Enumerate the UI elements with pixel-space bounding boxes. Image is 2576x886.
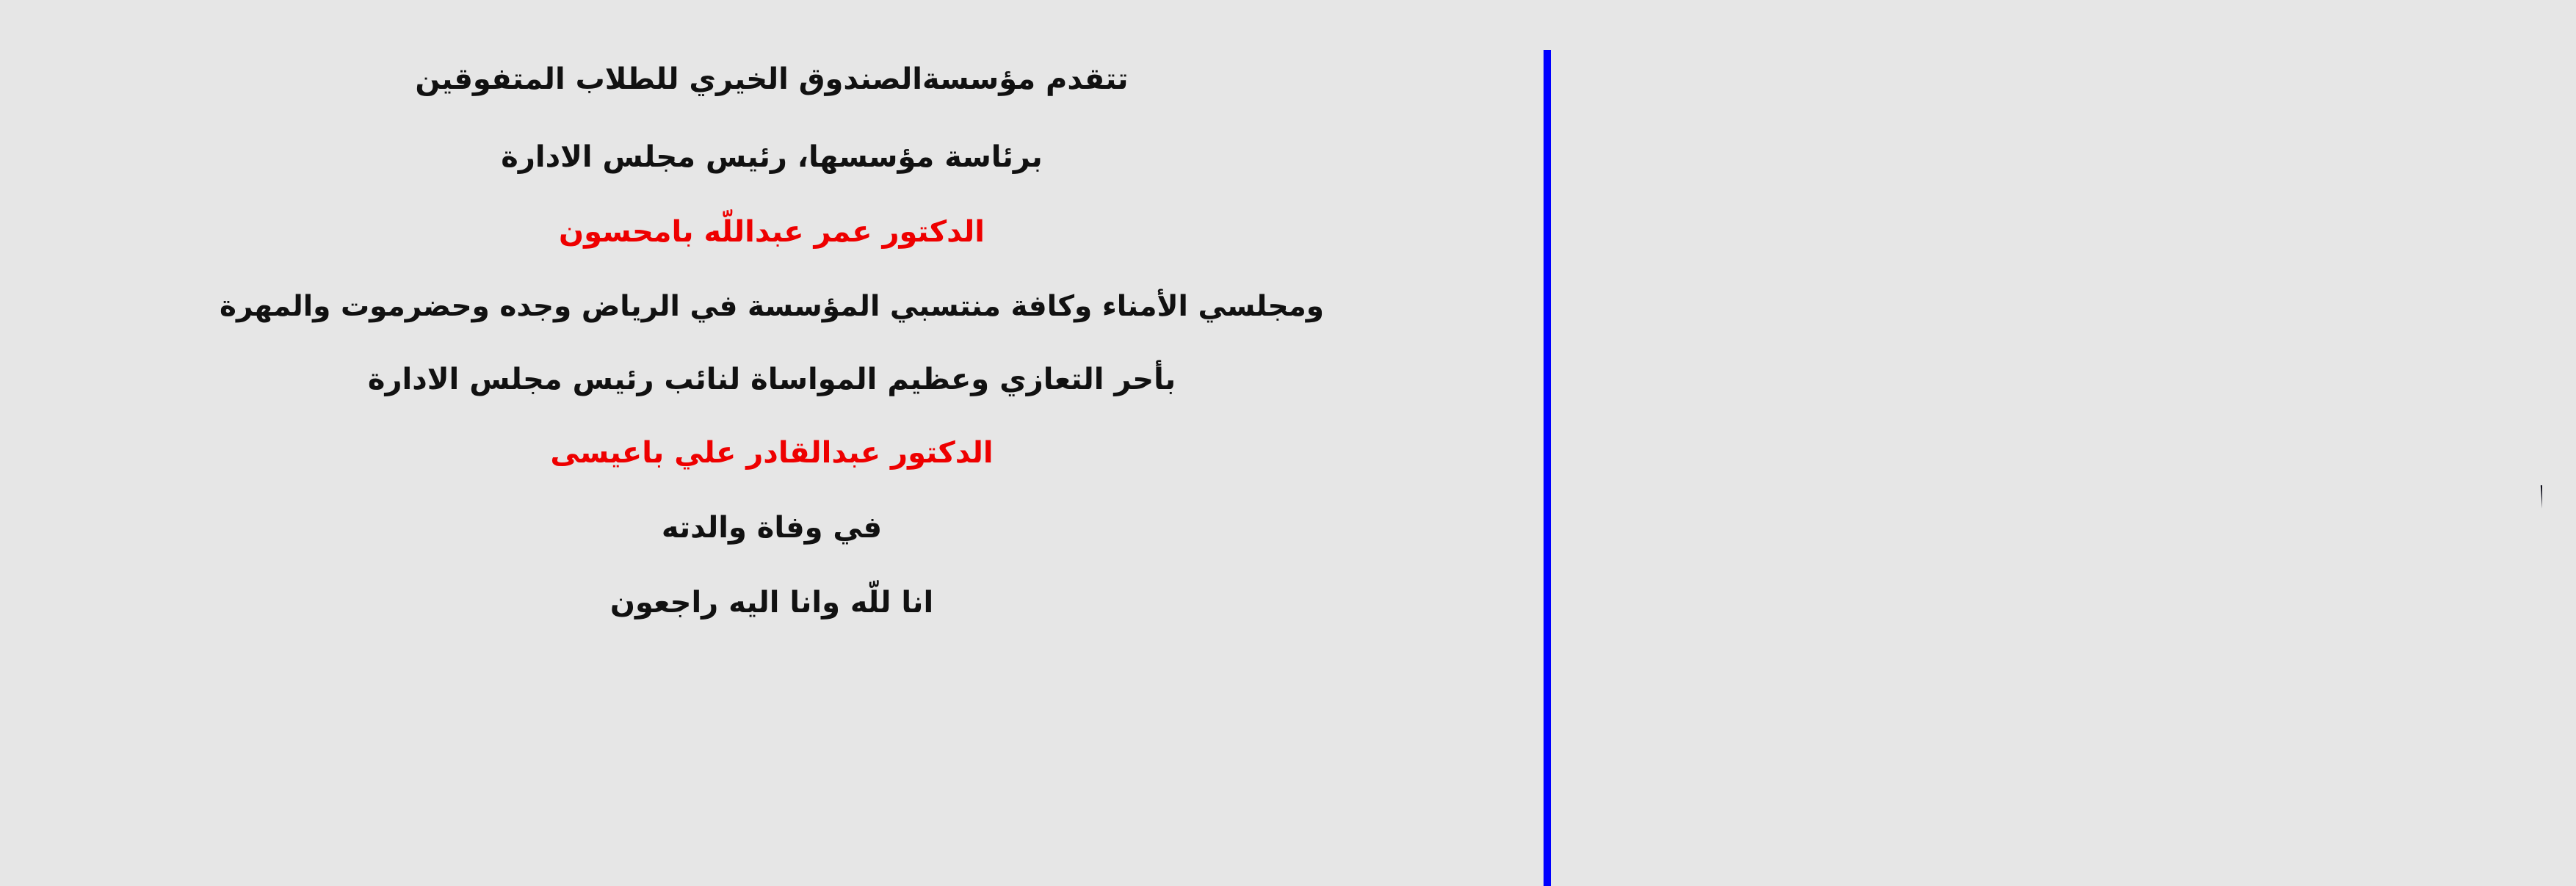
calligraphy-verse-middle-text: الَّذِينَ إِذَا أَصَابَتْهُم مُّصِيبَةٌ … <box>2528 440 2542 614</box>
calligraphy-stage: وَبَشِّرِ الصَّابِرِينَ الَّذِينَ إِذَا … <box>1551 0 2576 886</box>
condolence-poster: تتقدم مؤسسةالصندوق الخيري للطلاب المتفوق… <box>0 0 2576 886</box>
calligraphy-verse-bottom: إِنَّا لِلَّهِ وَإِنَّا إِلَيْهِ رَاجِعُ… <box>1771 639 2520 844</box>
notice-line-7: في وفاة والدته <box>118 513 1425 542</box>
notice-line-4: ومجلسي الأمناء وكافة منتسبي المؤسسة في ا… <box>118 292 1425 321</box>
notice-line-5: بأحر التعازي وعظيم المواساة لنائب رئيس م… <box>118 365 1425 394</box>
notice-line-bereaved-name: الدكتور عبدالقادر علي باعيسى <box>118 438 1425 468</box>
calligraphy-panel: وَبَشِّرِ الصَّابِرِينَ الَّذِينَ إِذَا … <box>1551 0 2576 886</box>
calligraphy-verse-bottom-text: إِنَّا لِلَّهِ وَإِنَّا إِلَيْهِ رَاجِعُ… <box>2506 639 2520 805</box>
calligraphy-verse-middle: الَّذِينَ إِذَا أَصَابَتْهُم مُّصِيبَةٌ … <box>1705 440 2542 661</box>
calligraphy-verse-top: وَبَشِّرِ الصَّابِرِينَ <box>1617 22 2572 433</box>
notice-line-1: تتقدم مؤسسةالصندوق الخيري للطلاب المتفوق… <box>118 65 1425 94</box>
vertical-blue-divider <box>1544 50 1551 886</box>
notice-line-2: برئاسة مؤسسها، رئيس مجلس الادارة <box>118 142 1425 172</box>
calligraphy-verse-top-text: وَبَشِّرِ الصَّابِرِينَ <box>2546 22 2572 369</box>
notice-text-panel: تتقدم مؤسسةالصندوق الخيري للطلاب المتفوق… <box>0 0 1544 886</box>
notice-line-istirja: انا للّه وانا اليه راجعون <box>118 588 1425 617</box>
notice-line-chairman-name: الدكتور عمر عبداللّه بامحسون <box>118 217 1425 247</box>
